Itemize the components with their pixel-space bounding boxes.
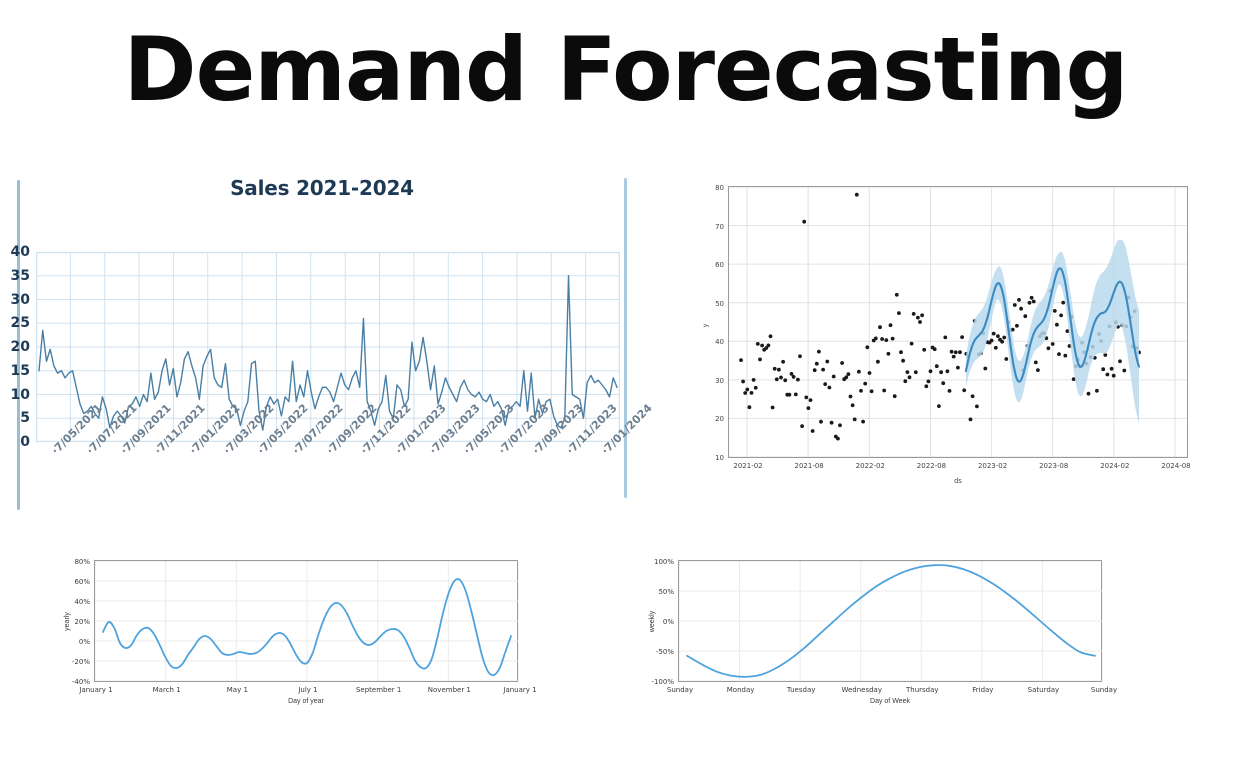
forecast-x-tick: 2024-08 <box>1161 462 1190 470</box>
forecast-chart-panel: y 10203040506070802021-022021-082022-022… <box>700 182 1192 500</box>
weekly-x-tick: Thursday <box>906 686 939 694</box>
yearly-x-tick: January 1 <box>79 686 112 694</box>
weekly-x-tick: Wednesday <box>841 686 882 694</box>
sales-chart-panel: Sales 2021-2024 0510152025303540 ·7/05/2… <box>24 176 620 512</box>
yearly-x-tick: May 1 <box>227 686 248 694</box>
sales-y-tick: 15 <box>11 363 30 379</box>
forecast-y-tick: 30 <box>715 377 724 385</box>
sales-y-tick: 10 <box>11 387 30 403</box>
forecast-x-tick: 2024-02 <box>1100 462 1129 470</box>
center-divider-bar <box>624 178 627 498</box>
forecast-x-axis-label: ds <box>728 478 1188 485</box>
forecast-y-tick: 80 <box>715 184 724 192</box>
weekly-y-tick: -100% <box>651 678 674 686</box>
yearly-line-svg <box>95 561 519 681</box>
sales-chart-title: Sales 2021-2024 <box>24 176 620 200</box>
weekly-x-tick: Sunday <box>1091 686 1117 694</box>
weekly-seasonality-panel: weekly 100%50%0%-50%-100%SundayMondayTue… <box>636 556 1106 716</box>
weekly-x-tick: Friday <box>972 686 993 694</box>
sales-y-tick: 20 <box>11 339 30 355</box>
yearly-y-tick: 60% <box>74 578 90 586</box>
forecast-y-tick: 70 <box>715 223 724 231</box>
yearly-x-tick: July 1 <box>298 686 317 694</box>
weekly-x-axis-label: Day of Week <box>678 698 1102 705</box>
forecast-x-tick: 2022-02 <box>856 462 885 470</box>
forecast-plot-svg <box>729 187 1187 457</box>
yearly-y-tick: 0% <box>79 638 90 646</box>
weekly-y-tick: -50% <box>656 648 674 656</box>
forecast-y-tick: 40 <box>715 338 724 346</box>
weekly-plot-area: 100%50%0%-50%-100%SundayMondayTuesdayWed… <box>678 560 1102 682</box>
sales-y-tick: 25 <box>11 315 30 331</box>
forecast-y-tick: 20 <box>715 415 724 423</box>
sales-y-tick: 40 <box>11 244 30 260</box>
yearly-y-tick: -20% <box>72 658 90 666</box>
yearly-x-tick: March 1 <box>153 686 181 694</box>
weekly-y-tick: 50% <box>658 588 674 596</box>
yearly-x-axis-label: Day of year <box>94 698 518 705</box>
forecast-y-axis-label: y <box>702 324 709 328</box>
forecast-plot-area: 10203040506070802021-022021-082022-02202… <box>728 186 1188 458</box>
forecast-x-tick: 2023-08 <box>1039 462 1068 470</box>
yearly-y-axis-label: yearly <box>64 612 71 631</box>
forecast-y-tick: 50 <box>715 300 724 308</box>
weekly-y-tick: 100% <box>654 558 674 566</box>
yearly-x-tick: November 1 <box>428 686 471 694</box>
sales-y-tick: 0 <box>20 434 30 450</box>
weekly-line-svg <box>679 561 1103 681</box>
weekly-x-tick: Sunday <box>667 686 693 694</box>
sales-x-axis-labels: ·7/05/2021·7/07/2021·7/09/2021·7/11/2021… <box>36 444 620 514</box>
weekly-x-tick: Saturday <box>1028 686 1060 694</box>
yearly-y-tick: 80% <box>74 558 90 566</box>
yearly-y-tick: -40% <box>72 678 90 686</box>
yearly-seasonality-panel: yearly 80%60%40%20%0%-20%-40%January 1Ma… <box>52 556 522 716</box>
yearly-plot-area: 80%60%40%20%0%-20%-40%January 1March 1Ma… <box>94 560 518 682</box>
yearly-x-tick: January 1 <box>503 686 536 694</box>
weekly-x-tick: Monday <box>727 686 755 694</box>
yearly-y-tick: 20% <box>74 618 90 626</box>
weekly-x-tick: Tuesday <box>787 686 815 694</box>
forecast-x-tick: 2021-08 <box>795 462 824 470</box>
page-title: Demand Forecasting <box>0 26 1251 114</box>
forecast-y-tick: 60 <box>715 261 724 269</box>
weekly-y-tick: 0% <box>663 618 674 626</box>
forecast-x-tick: 2022-08 <box>917 462 946 470</box>
sales-y-tick: 5 <box>20 410 30 426</box>
yearly-y-tick: 40% <box>74 598 90 606</box>
forecast-x-tick: 2021-02 <box>733 462 762 470</box>
sales-y-tick: 30 <box>11 292 30 308</box>
forecast-x-tick: 2023-02 <box>978 462 1007 470</box>
weekly-y-axis-label: weekly <box>649 611 656 632</box>
forecast-y-tick: 10 <box>715 454 724 462</box>
yearly-x-tick: September 1 <box>356 686 401 694</box>
sales-y-tick: 35 <box>11 268 30 284</box>
